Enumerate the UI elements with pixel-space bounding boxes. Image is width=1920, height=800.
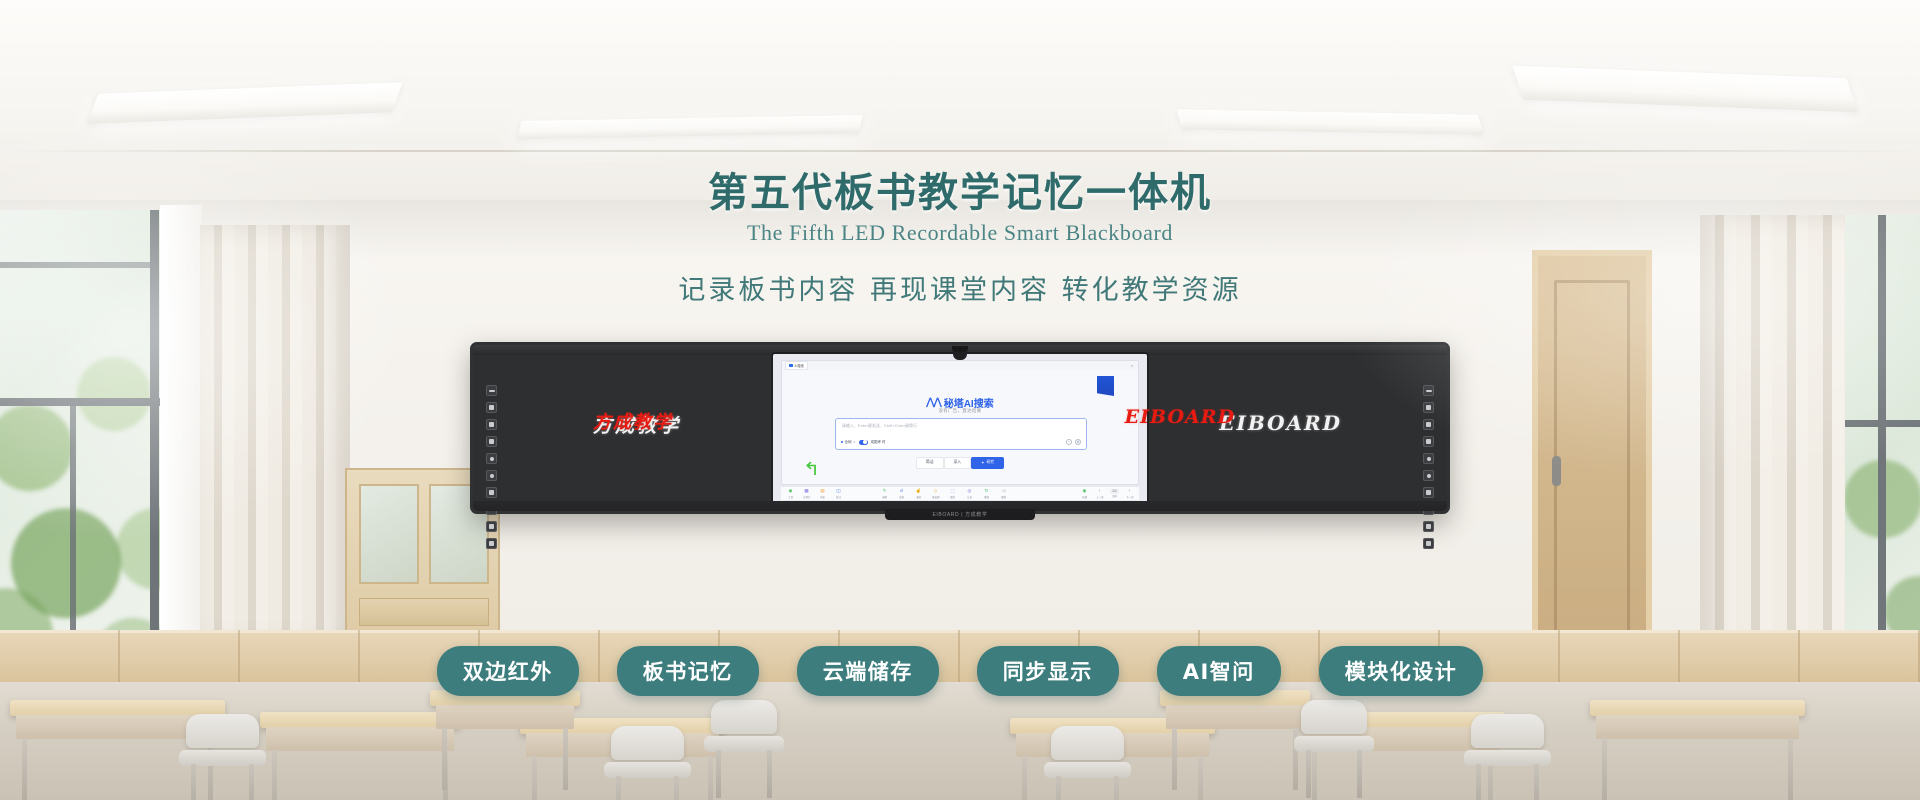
send-icon[interactable]: ⬆: [1075, 439, 1081, 445]
toolbar-button-label: 橡皮擦: [932, 495, 939, 499]
page-icon[interactable]: [486, 436, 497, 447]
pen-icon[interactable]: [1423, 419, 1434, 430]
browser-tab-label: AI搜索: [795, 363, 804, 368]
toolbar-left-group: ◉ 工具 ▩ 应用栏 ▤ 列表 ◫ 批注: [785, 488, 844, 500]
next-page-button[interactable]: › 下一页: [1124, 488, 1135, 499]
toolbar-button[interactable]: ☝ 漫游: [913, 488, 924, 500]
chevron-right-icon: ›: [1129, 488, 1131, 494]
toolbar-button[interactable]: ✎ 画笔: [879, 488, 890, 500]
blackboard-brand-strip: EIBOARD | 方成教学: [885, 509, 1035, 520]
browser-titlebar: AI搜索 ×: [782, 361, 1138, 370]
sparkle-icon: ✦: [981, 460, 984, 465]
feature-pill-dual-infrared[interactable]: 双边红外: [437, 646, 579, 696]
browser-tab[interactable]: AI搜索: [785, 361, 808, 370]
center-display-screen[interactable]: AI搜索 × ⋀⋀ 秘塔AI搜索 没有广告，直达结果 请输入、Enter键发送、…: [773, 354, 1147, 507]
cabinet-glass-door: [359, 484, 419, 584]
door-panel: [1554, 280, 1630, 646]
close-icon[interactable]: ×: [1131, 363, 1135, 368]
shape-icon: ⬚: [949, 488, 956, 495]
page-indicator-value: 1/1: [1110, 489, 1120, 494]
settings-icon[interactable]: [1423, 538, 1434, 549]
new-page-icon: ◉: [1081, 488, 1088, 495]
deep-think-label: 成图考 时: [871, 440, 886, 445]
toolbar-button[interactable]: ◉ 工具: [785, 488, 796, 500]
select-icon: ☌: [898, 488, 905, 495]
chevron-left-icon: ‹: [1099, 488, 1101, 494]
page-subtitle: 记录板书内容 再现课堂内容 转化教学资源: [0, 268, 1920, 307]
classroom-door: [1532, 250, 1652, 670]
page-icon[interactable]: [1423, 436, 1434, 447]
mode-button-group: 简洁 深入 ✦ 研究: [782, 457, 1138, 469]
pen-icon[interactable]: [486, 419, 497, 430]
toolbar-button-label: 选择: [899, 495, 904, 499]
mode-button-simple[interactable]: 简洁: [916, 457, 944, 469]
scope-label: 全网: [845, 440, 852, 445]
toolbar-center-group: ✎ 画笔 ☌ 选择 ☝ 漫游 ◇ 橡皮擦: [879, 488, 1009, 500]
record-icon[interactable]: [1423, 470, 1434, 481]
toolbar-button[interactable]: ◫ 批注: [833, 488, 844, 500]
record-icon[interactable]: [1423, 453, 1434, 464]
annotation-red-en: EIBOARD: [1125, 406, 1235, 428]
search-action-icons: ⌾ ⬆: [1066, 439, 1081, 445]
search-options-row: 全网 ∨ 成图考 时 ⌾ ⬆: [841, 438, 1081, 446]
toolbar-button-label: 重做: [984, 495, 989, 499]
redo-icon: ↻: [983, 488, 990, 495]
search-placeholder: 请输入、Enter键发送、Shift+Enter键换行: [842, 424, 917, 429]
mode-button-research[interactable]: ✦ 研究: [971, 457, 1004, 469]
undo-icon: ◁: [1000, 488, 1007, 495]
toolbar-button-label: 画笔: [882, 495, 887, 499]
app-tagline: 没有广告，直达结果: [782, 408, 1138, 414]
favicon-icon: [789, 364, 793, 368]
list-icon: ▤: [819, 488, 826, 495]
toolbar-button[interactable]: ▩ 应用栏: [801, 488, 812, 500]
toolbar-button[interactable]: ◎ 认证: [964, 488, 975, 500]
cabinet-drawer: [359, 598, 489, 626]
new-page-label: 新建: [1082, 495, 1087, 499]
mode-button-deep[interactable]: 深入: [944, 457, 972, 469]
pan-icon: ☝: [915, 488, 922, 495]
eraser-icon: ◇: [932, 488, 939, 495]
next-page-label: 下一页: [1126, 495, 1133, 499]
screen-toggle-icon[interactable]: [486, 385, 497, 396]
toolbar-button[interactable]: ◇ 橡皮擦: [930, 488, 941, 500]
classroom-scene: 第五代板书教学记忆一体机 The Fifth LED Recordable Sm…: [0, 0, 1920, 800]
toolbar-button-label: 图形: [950, 495, 955, 499]
screen-bottom-toolbar[interactable]: ◉ 工具 ▩ 应用栏 ▤ 列表 ◫ 批注: [781, 486, 1139, 500]
undo-arrow-icon: ↰: [803, 460, 820, 478]
annotate-icon: ◫: [835, 488, 842, 495]
blackboard-handwriting-right: EIBOARD: [1219, 411, 1342, 435]
deep-think-toggle[interactable]: [859, 440, 868, 445]
chevron-down-icon: ∨: [853, 440, 856, 444]
toolbar-button-label: 漫游: [916, 495, 921, 499]
annotation-red-cn: 方成教学: [593, 408, 673, 434]
page-title-cn: 第五代板书教学记忆一体机: [0, 168, 1920, 218]
blackboard-left-rail[interactable]: [486, 385, 497, 549]
new-page-button[interactable]: ◉ 新建: [1079, 488, 1090, 500]
blackboard-right-rail[interactable]: [1423, 385, 1434, 549]
headline-block: 第五代板书教学记忆一体机 The Fifth LED Recordable Sm…: [0, 168, 1920, 307]
stop-icon[interactable]: [486, 487, 497, 498]
toolbar-button-label: 工具: [788, 495, 793, 499]
scope-selector[interactable]: 全网 ∨: [841, 440, 856, 445]
pen-icon[interactable]: [1423, 402, 1434, 413]
prev-page-label: 上一页: [1096, 495, 1103, 499]
feature-pill-modular-design[interactable]: 模块化设计: [1319, 646, 1484, 696]
toolbar-button-label: 列表: [820, 495, 825, 499]
toolbar-right-group: ◉ 新建 ‹ 上一页 1/1 页码 › 下一页: [1079, 488, 1135, 500]
toolbar-button-label: 认证: [967, 495, 972, 499]
close-icon[interactable]: [1423, 521, 1434, 532]
feature-pill-sync-display[interactable]: 同步显示: [977, 646, 1119, 696]
feature-pill-ai-ask[interactable]: AI智问: [1157, 646, 1281, 696]
record-icon[interactable]: [486, 470, 497, 481]
toolbar-button[interactable]: ▤ 列表: [817, 488, 828, 500]
page-indicator-label: 页码: [1112, 494, 1117, 498]
pen-icon: ✎: [881, 488, 888, 495]
metaso-mark-icon: ⋀⋀: [926, 397, 940, 408]
smart-blackboard: 方成教学 EIBOARD AI搜索 × ⋀⋀: [470, 342, 1450, 522]
toolbar-button[interactable]: ↻ 重做: [981, 488, 992, 500]
screen-toggle-icon[interactable]: [1423, 385, 1434, 396]
toolbar-button[interactable]: ◁ 撤销: [998, 488, 1009, 500]
door-handle: [1552, 456, 1561, 486]
toolbar-button-label: 批注: [836, 495, 841, 499]
camera-icon: [952, 346, 968, 354]
close-icon[interactable]: [486, 521, 497, 532]
ceiling-seam: [0, 150, 1920, 152]
recognize-icon: ◎: [966, 488, 973, 495]
settings-icon[interactable]: [486, 538, 497, 549]
record-icon[interactable]: [486, 453, 497, 464]
page-indicator: 1/1 页码: [1109, 489, 1120, 499]
toolbar-button[interactable]: ⬚ 图形: [947, 488, 958, 500]
scope-dot-icon: [841, 441, 843, 443]
toolbar-button-label: 应用栏: [803, 495, 810, 499]
feature-pill-row: 双边红外 板书记忆 云端储存 同步显示 AI智问 模块化设计: [0, 646, 1920, 696]
browser-window: AI搜索 × ⋀⋀ 秘塔AI搜索 没有广告，直达结果 请输入、Enter键发送、…: [781, 360, 1139, 485]
window-mullion: [1845, 420, 1920, 427]
stop-icon[interactable]: [1423, 487, 1434, 498]
page-title-en: The Fifth LED Recordable Smart Blackboar…: [0, 220, 1920, 246]
pen-icon[interactable]: [486, 402, 497, 413]
app-grid-icon: ▩: [803, 488, 810, 495]
mode-button-research-label: 研究: [986, 460, 994, 465]
bookmark-flag-icon: [1097, 376, 1114, 396]
feature-pill-cloud-storage[interactable]: 云端储存: [797, 646, 939, 696]
prev-page-button[interactable]: ‹ 上一页: [1094, 488, 1105, 499]
camera-icon[interactable]: ⌾: [1066, 439, 1072, 445]
tools-icon: ◉: [787, 488, 794, 495]
search-input[interactable]: 请输入、Enter键发送、Shift+Enter键换行 全网 ∨ 成图考 时 ⌾: [835, 418, 1087, 450]
feature-pill-board-memory[interactable]: 板书记忆: [617, 646, 759, 696]
toolbar-button-label: 撤销: [1001, 495, 1006, 499]
toolbar-button[interactable]: ☌ 选择: [896, 488, 907, 500]
